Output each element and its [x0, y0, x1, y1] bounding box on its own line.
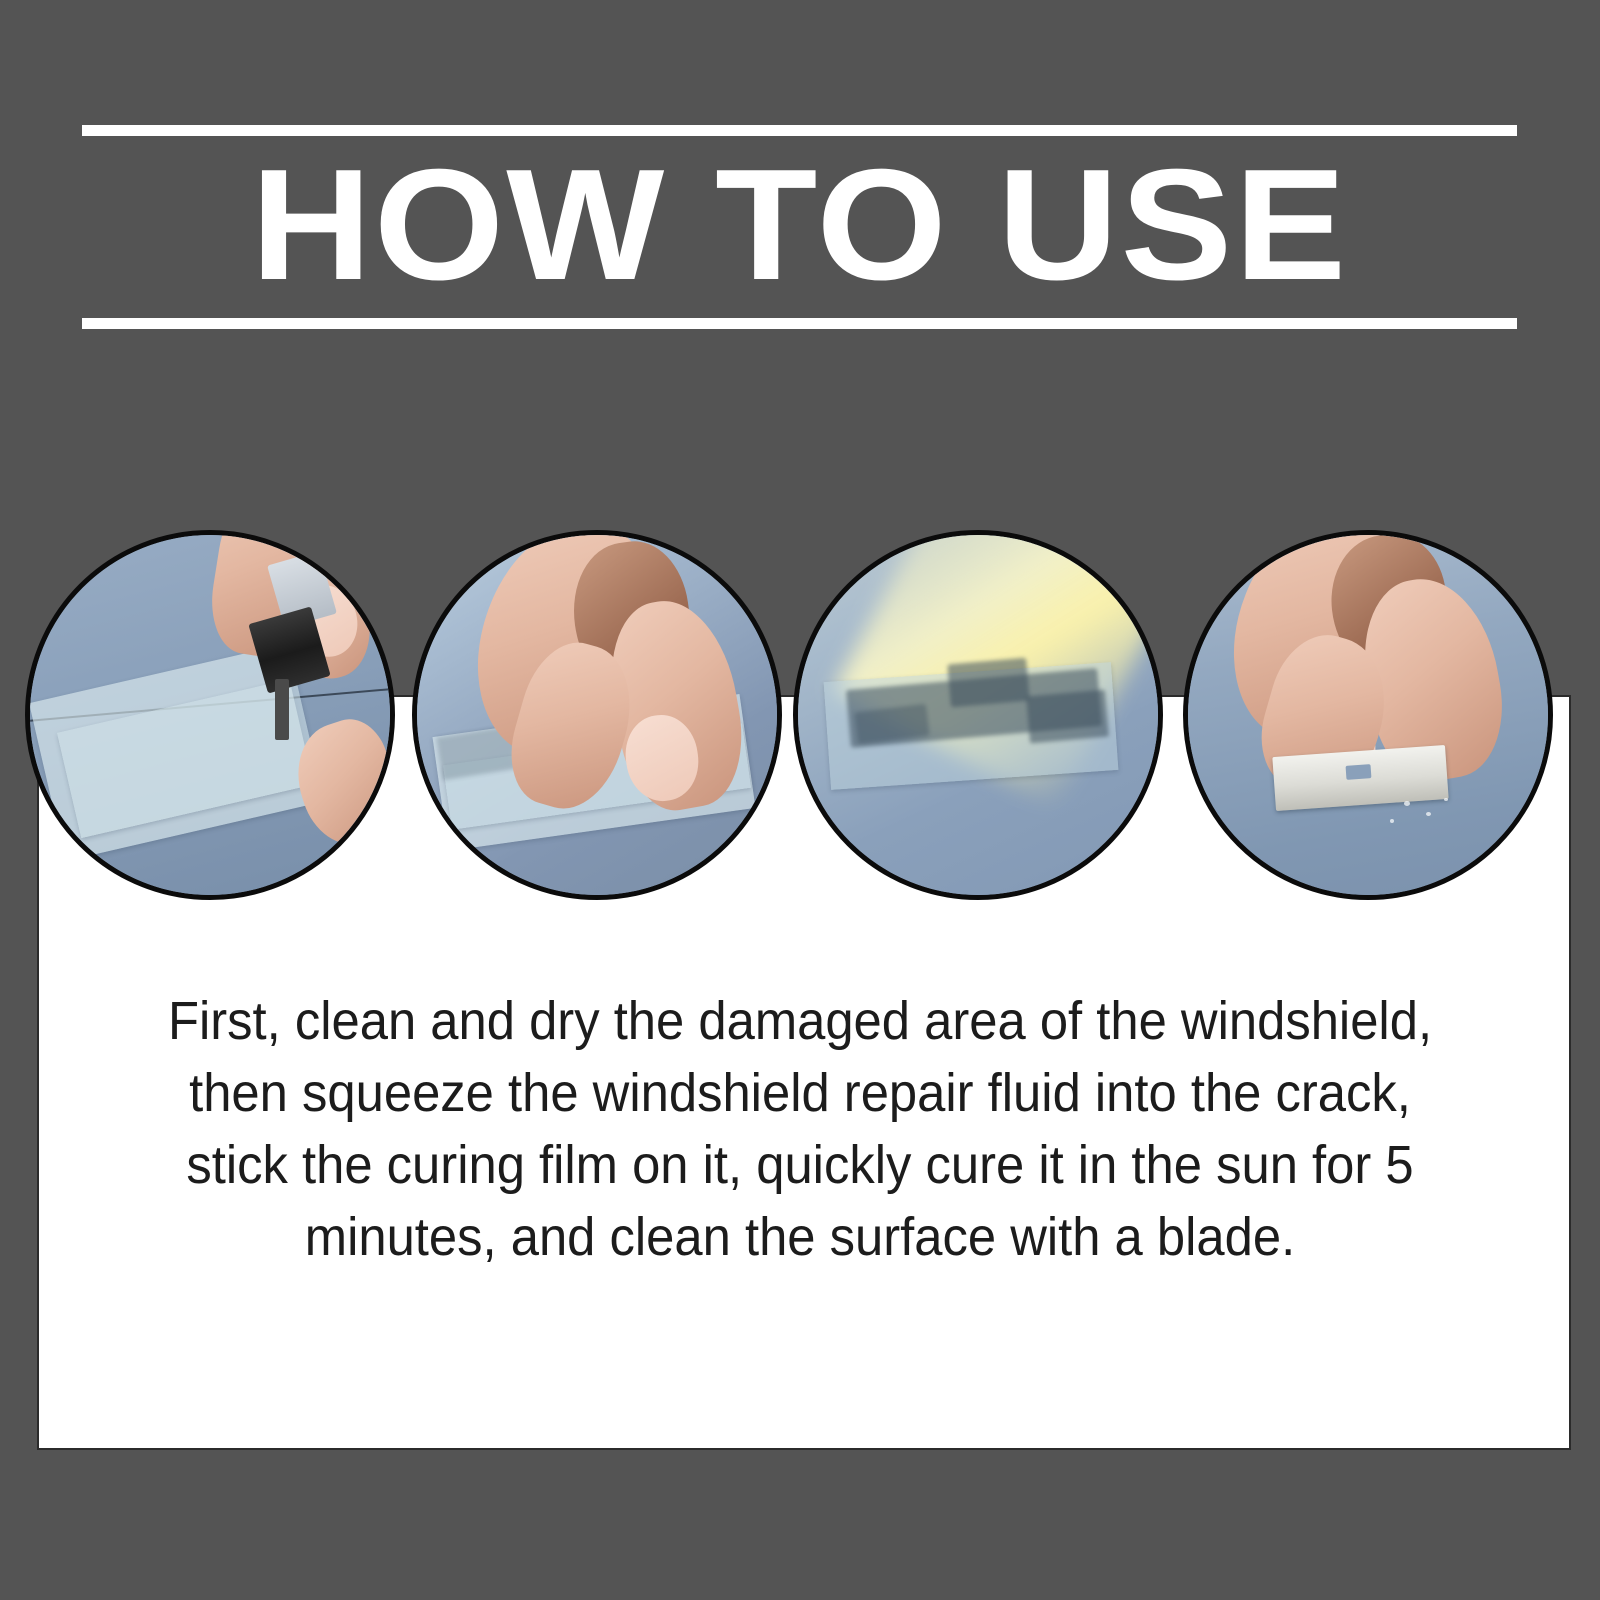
step-3-image [793, 530, 1163, 900]
step-image-row [0, 530, 1600, 902]
step-1-image [25, 530, 395, 900]
header: HOW TO USE [82, 125, 1517, 329]
press-curing-film-photo [417, 535, 777, 895]
instructions-text: First, clean and dry the damaged area of… [161, 985, 1439, 1273]
cure-in-sunlight-photo [798, 535, 1158, 895]
applicator-on-crack-photo [30, 535, 390, 895]
how-to-use-infographic: HOW TO USE [0, 0, 1600, 1600]
title-rule-bottom [82, 318, 1517, 329]
page-title: HOW TO USE [39, 136, 1560, 318]
scrape-with-blade-photo [1188, 535, 1548, 895]
title-rule-top [82, 125, 1517, 136]
step-4-image [1183, 530, 1553, 900]
step-2-image [412, 530, 782, 900]
